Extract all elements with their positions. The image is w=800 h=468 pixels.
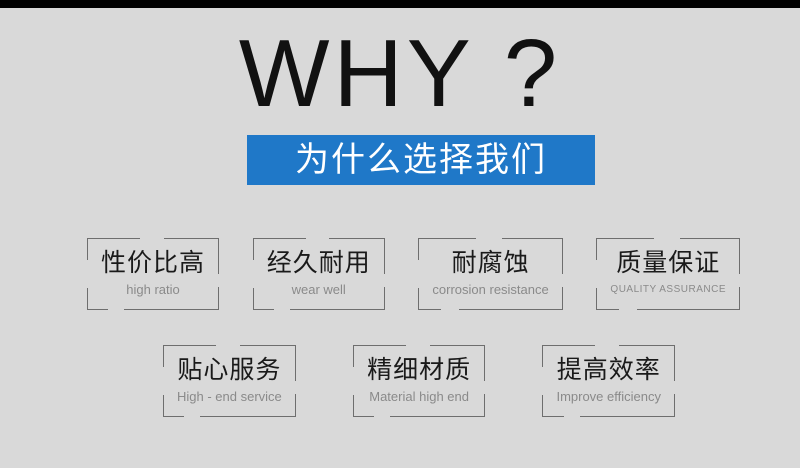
frame-edge-left-top-icon — [418, 238, 419, 260]
frame-edge-right-bottom-icon — [484, 394, 485, 417]
frame-corner-top-right-icon — [619, 345, 675, 346]
frame-edge-right-top-icon — [218, 238, 219, 274]
frame-edge-left-top-icon — [542, 345, 543, 367]
headline-why: WHY ? — [0, 22, 800, 126]
frame-corner-top-left-icon — [542, 345, 595, 346]
frame-edge-right-top-icon — [484, 345, 485, 381]
frame-edge-right-top-icon — [562, 238, 563, 274]
frame-corner-bottom-right-icon — [200, 416, 296, 417]
frame-edge-left-top-icon — [253, 238, 254, 260]
feature-title-cn: 贴心服务 — [177, 354, 281, 386]
frame-edge-left-bottom-icon — [353, 395, 354, 417]
feature-card-wear-well[interactable]: 经久耐用 wear well — [253, 238, 385, 310]
frame-corner-bottom-right-icon — [290, 309, 385, 310]
frame-edge-right-bottom-icon — [562, 287, 563, 310]
frame-corner-bottom-left-icon — [353, 416, 374, 417]
frame-corner-top-right-icon — [680, 238, 740, 239]
feature-row-1: 性价比高 high ratio 经久耐用 wear well 耐腐蚀 c — [87, 238, 740, 310]
poster-canvas: WHY ? 为什么选择我们 性价比高 high ratio 经久耐用 — [0, 0, 800, 468]
frame-corner-bottom-right-icon — [124, 309, 219, 310]
frame-corner-top-left-icon — [253, 238, 306, 239]
subtitle-banner-text: 为什么选择我们 — [295, 140, 547, 180]
frame-edge-right-top-icon — [674, 345, 675, 381]
frame-edge-right-bottom-icon — [295, 394, 296, 417]
frame-edge-left-bottom-icon — [163, 395, 164, 417]
feature-subtitle-en: corrosion resistance — [432, 280, 548, 300]
frame-edge-left-top-icon — [596, 238, 597, 260]
frame-corner-top-right-icon — [502, 238, 563, 239]
feature-title-cn: 质量保证 — [616, 247, 720, 279]
feature-subtitle-en: Material high end — [369, 387, 469, 407]
feature-title-cn: 耐腐蚀 — [452, 247, 530, 279]
frame-edge-right-bottom-icon — [674, 394, 675, 417]
frame-edge-right-top-icon — [384, 238, 385, 274]
frame-edge-right-bottom-icon — [218, 287, 219, 310]
feature-title-cn: 精细材质 — [367, 354, 471, 386]
feature-title-cn: 提高效率 — [557, 354, 661, 386]
feature-subtitle-en: QUALITY ASSURANCE — [610, 280, 726, 300]
frame-corner-top-left-icon — [163, 345, 216, 346]
frame-corner-bottom-right-icon — [637, 309, 740, 310]
frame-corner-top-right-icon — [164, 238, 219, 239]
feature-card-improve-efficiency[interactable]: 提高效率 Improve efficiency — [542, 345, 675, 417]
frame-edge-left-top-icon — [87, 238, 88, 260]
feature-subtitle-en: wear well — [292, 280, 346, 300]
headline-block: WHY ? — [0, 22, 800, 126]
frame-edge-left-top-icon — [353, 345, 354, 367]
frame-edge-left-bottom-icon — [253, 288, 254, 310]
frame-edge-right-top-icon — [739, 238, 740, 274]
frame-corner-bottom-left-icon — [542, 416, 563, 417]
frame-corner-bottom-right-icon — [580, 416, 675, 417]
frame-corner-top-left-icon — [418, 238, 476, 239]
frame-corner-top-right-icon — [329, 238, 384, 239]
frame-corner-top-left-icon — [87, 238, 140, 239]
subtitle-banner: 为什么选择我们 — [247, 135, 595, 185]
feature-subtitle-en: High - end service — [177, 387, 282, 407]
frame-corner-top-right-icon — [240, 345, 296, 346]
frame-corner-top-left-icon — [596, 238, 653, 239]
frame-edge-left-bottom-icon — [418, 288, 419, 310]
frame-corner-top-left-icon — [353, 345, 406, 346]
frame-corner-bottom-left-icon — [87, 309, 108, 310]
top-black-strip — [0, 0, 800, 8]
frame-corner-top-right-icon — [430, 345, 485, 346]
feature-card-quality-assurance[interactable]: 质量保证 QUALITY ASSURANCE — [596, 238, 740, 310]
frame-edge-right-bottom-icon — [739, 287, 740, 310]
frame-edge-left-bottom-icon — [87, 288, 88, 310]
feature-card-high-end-service[interactable]: 贴心服务 High - end service — [163, 345, 296, 417]
frame-edge-left-top-icon — [163, 345, 164, 367]
feature-subtitle-en: high ratio — [126, 280, 179, 300]
frame-edge-left-bottom-icon — [596, 288, 597, 310]
feature-card-high-ratio[interactable]: 性价比高 high ratio — [87, 238, 219, 310]
feature-card-material-high-end[interactable]: 精细材质 Material high end — [353, 345, 485, 417]
feature-row-2: 贴心服务 High - end service 精细材质 Material hi… — [163, 345, 675, 417]
frame-edge-right-bottom-icon — [384, 287, 385, 310]
frame-corner-bottom-right-icon — [459, 309, 563, 310]
frame-edge-right-top-icon — [295, 345, 296, 381]
feature-title-cn: 性价比高 — [101, 247, 205, 279]
feature-title-cn: 经久耐用 — [267, 247, 371, 279]
feature-card-corrosion-resistance[interactable]: 耐腐蚀 corrosion resistance — [418, 238, 562, 310]
feature-subtitle-en: Improve efficiency — [556, 387, 661, 407]
frame-corner-bottom-left-icon — [253, 309, 274, 310]
frame-corner-bottom-left-icon — [163, 416, 184, 417]
frame-corner-bottom-right-icon — [390, 416, 485, 417]
frame-corner-bottom-left-icon — [596, 309, 619, 310]
frame-corner-bottom-left-icon — [418, 309, 441, 310]
frame-edge-left-bottom-icon — [542, 395, 543, 417]
